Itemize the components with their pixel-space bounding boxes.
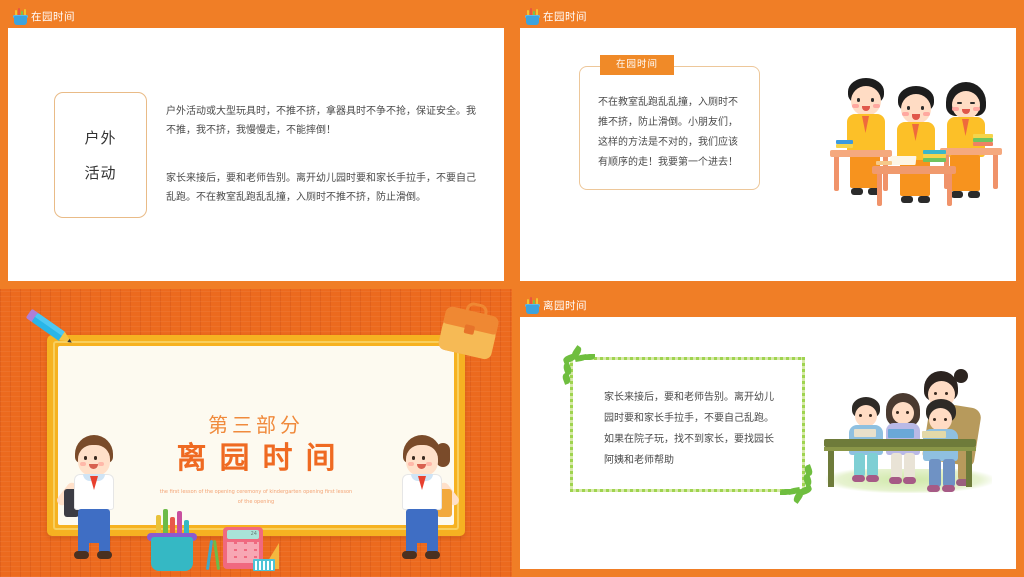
slide-2-canvas: 在园时间 不在教室乱跑乱乱撞，入厕时不推不挤，防止滑倒。小朋友们，这样的方法是不… [520, 28, 1016, 281]
vine-border-bottom [570, 489, 805, 492]
boy-waving-illustration [58, 431, 130, 561]
slide-4-header-label: 离园时间 [543, 301, 587, 312]
slide-1-canvas: 户外 活动 户外活动或大型玩具时，不推不挤，拿器具时不争不抢，保证安全。我不推，… [8, 28, 504, 281]
vine-frame: 家长来接后，要和老师告别。离开幼儿园时要和家长手拉手，不要自己乱跑。如果在院子玩… [570, 357, 805, 492]
slide-1-body: 户外活动或大型玩具时，不推不挤，拿器具时不争不抢，保证安全。我不推，我不挤，我慢… [166, 102, 482, 208]
vine-border-top [570, 357, 805, 360]
slide-2[interactable]: 在园时间 在园时间 不在教室乱跑乱乱撞，入厕时不推不挤，防止滑倒。小朋友们，这样… [512, 0, 1024, 289]
slide-4[interactable]: 离园时间 [512, 289, 1024, 577]
slide-2-header-label: 在园时间 [543, 12, 587, 23]
slide-2-body: 不在教室乱跑乱乱撞，入厕时不推不挤，防止滑倒。小朋友们，这样的方法是不对的，我们… [598, 93, 741, 173]
calculator-display: 24 [227, 530, 259, 539]
slide-1-paragraph-2: 家长来接后，要和老师告别。离开幼儿园时要和家长手拉手，不要自己乱跑。不在教室乱跑… [166, 169, 482, 208]
student-2 [888, 86, 942, 210]
desk-left [830, 150, 892, 157]
slide-1-content: 户外 活动 户外活动或大型玩具时，不推不挤，拿器具时不争不抢，保证安全。我不推，… [8, 28, 504, 281]
slide-1-inner: 在园时间 户外 活动 户外活动或大型玩具时，不推不挤，拿器具时不争不抢，保证安全… [8, 7, 504, 281]
badge-line-2: 活动 [84, 162, 116, 183]
slide-4-inner: 离园时间 [520, 296, 1016, 569]
pencil-cup-icon [526, 10, 539, 25]
outdoor-activity-badge: 户外 活动 [54, 92, 147, 218]
slide-4-canvas: 家长来接后，要和老师告别。离开幼儿园时要和家长手拉手，不要自己乱跑。如果在院子玩… [520, 317, 1016, 569]
pencil-cup-icon [526, 299, 539, 314]
desk-right [940, 148, 1002, 155]
slide-2-callout: 在园时间 不在教室乱跑乱乱撞，入厕时不推不挤，防止滑倒。小朋友们，这样的方法是不… [579, 66, 760, 190]
slide-thumbnail-grid: 在园时间 户外 活动 户外活动或大型玩具时，不推不挤，拿器具时不争不抢，保证安全… [0, 0, 1024, 577]
slide-2-inner: 在园时间 在园时间 不在教室乱跑乱乱撞，入厕时不推不挤，防止滑倒。小朋友们，这样… [520, 7, 1016, 281]
slide-4-body: 家长来接后，要和老师告别。离开幼儿园时要和家长手拉手，不要自己乱跑。如果在院子玩… [604, 387, 776, 471]
desk-center [872, 166, 956, 174]
slide-1-paragraph-1: 户外活动或大型玩具时，不推不挤，拿器具时不争不抢，保证安全。我不推，我不挤，我慢… [166, 102, 482, 141]
three-students-at-desks-illustration [830, 72, 1000, 208]
slide-4-header: 离园时间 [520, 296, 1016, 317]
pencil-cup-icon [14, 10, 27, 25]
girl-waving-illustration [386, 431, 458, 561]
leaf-corner-top-left [561, 347, 601, 387]
slide-4-body-wrap: 家长来接后，要和老师告别。离开幼儿园时要和家长手拉手，不要自己乱跑。如果在院子玩… [604, 387, 776, 471]
slide-2-tag: 在园时间 [600, 55, 674, 75]
leaf-corner-bottom-right [774, 462, 814, 502]
slide-2-bubble: 不在教室乱跑乱乱撞，入厕时不推不挤，防止滑倒。小朋友们，这样的方法是不对的，我们… [579, 66, 760, 190]
badge-line-1: 户外 [84, 127, 116, 148]
teacher-helping-students-illustration [818, 365, 998, 505]
table-top [824, 439, 976, 447]
slide-1[interactable]: 在园时间 户外 活动 户外活动或大型玩具时，不推不挤，拿器具时不争不抢，保证安全… [0, 0, 512, 289]
stationery-illustration: 24 [145, 503, 285, 571]
compass-icon [205, 534, 223, 570]
slide-2-header: 在园时间 [520, 7, 1016, 28]
slide-1-header: 在园时间 [8, 7, 504, 28]
slide-1-header-label: 在园时间 [31, 12, 75, 23]
slide-3[interactable]: 第三部分 离园时间 the first lesson of the openin… [0, 289, 512, 577]
